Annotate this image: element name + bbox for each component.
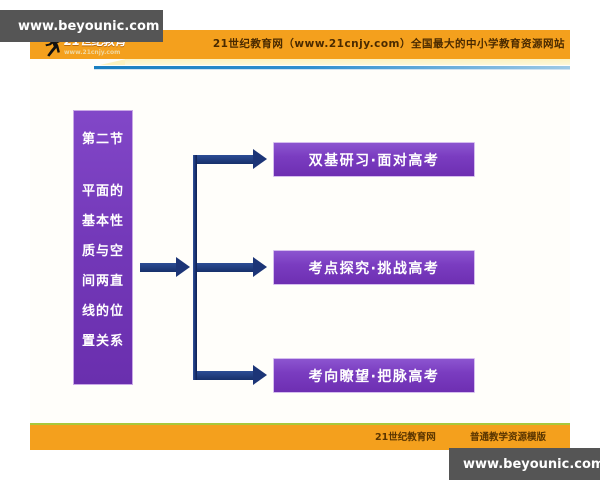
- header-wedge-taper: [100, 59, 126, 65]
- section-title-line-2: 基本性: [82, 207, 124, 237]
- slide-canvas: 21世纪教育网（www.21cnjy.com）全国最大的中小学教育资源网站 21…: [30, 30, 570, 450]
- branch-arrow-shaft-1: [197, 155, 255, 164]
- header-wedge: [125, 59, 570, 65]
- branch-button-label-3: 考向瞭望·把脉高考: [309, 366, 440, 386]
- header-blue-rule-soft: [94, 69, 570, 70]
- section-number: 第二节: [82, 125, 124, 155]
- branch-button-shuangji-yanxi[interactable]: 双基研习·面对高考: [273, 142, 475, 177]
- section-title-line-6: 置关系: [82, 327, 124, 357]
- branch-button-kaodian-tanjiu[interactable]: 考点探究·挑战高考: [273, 250, 475, 285]
- branch-button-label-1: 双基研习·面对高考: [309, 150, 440, 170]
- section-title-line-4: 间两直: [82, 267, 124, 297]
- branch-arrow-shaft-2: [197, 263, 255, 272]
- branch-arrow-head-icon-3: [253, 365, 267, 385]
- section-title-line-5: 线的位: [82, 297, 124, 327]
- branch-arrow-head-icon-2: [253, 257, 267, 277]
- entry-arrow-head-icon: [176, 257, 190, 277]
- header-title: 21世纪教育网（www.21cnjy.com）全国最大的中小学教育资源网站: [180, 34, 565, 55]
- branch-button-label-2: 考点探究·挑战高考: [309, 258, 440, 278]
- branch-button-kaoxiang-liaowang[interactable]: 考向瞭望·把脉高考: [273, 358, 475, 393]
- section-title-line-1: 平面的: [82, 177, 124, 207]
- section-title-line-3: 质与空: [82, 237, 124, 267]
- watermark-bottom: www.beyounic.com: [449, 448, 600, 480]
- branch-arrow-head-icon-1: [253, 149, 267, 169]
- entry-arrow-shaft: [140, 263, 178, 272]
- watermark-top: www.beyounic.com: [0, 10, 163, 42]
- footer-site-name: 21世纪教育网: [375, 425, 436, 450]
- branch-arrow-shaft-3: [197, 371, 255, 380]
- footer-template-name: 普通教学资源模版: [470, 425, 546, 450]
- section-title-box: 第二节 平面的 基本性 质与空 间两直 线的位 置关系: [73, 110, 133, 385]
- logo-url: www.21cnjy.com: [64, 48, 140, 58]
